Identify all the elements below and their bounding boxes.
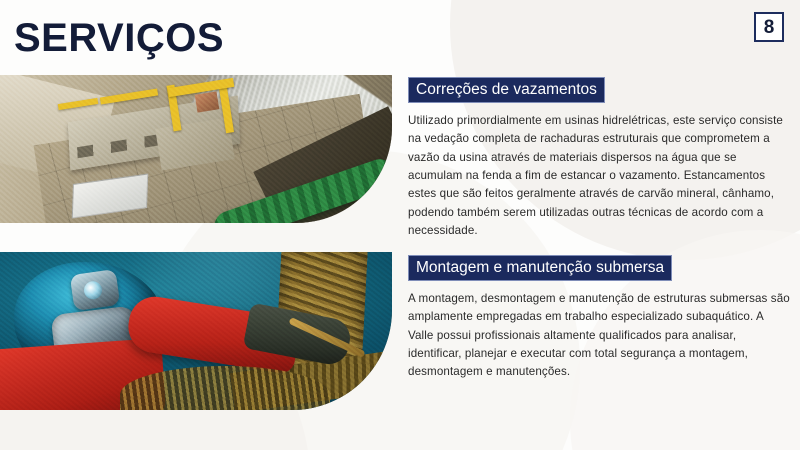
photo-grain-overlay (0, 75, 392, 223)
service-heading-submerged-assembly: Montagem e manutenção submersa (408, 255, 672, 281)
service-image-dam (0, 75, 392, 223)
service-heading-leak-corrections: Correções de vazamentos (408, 77, 605, 103)
page-number-badge: 8 (754, 12, 784, 42)
service-block-submerged-assembly: Montagem e manutenção submersa A montage… (0, 252, 800, 410)
photo-grain-overlay (0, 252, 392, 410)
service-text-column: Montagem e manutenção submersa A montage… (408, 255, 790, 382)
page-number-value: 8 (764, 18, 775, 37)
service-block-leak-corrections: Correções de vazamentos Utilizado primor… (0, 75, 800, 223)
service-image-diver (0, 252, 392, 410)
page-title: SERVIÇOS (14, 18, 224, 58)
slide: SERVIÇOS 8 (0, 0, 800, 450)
service-body-leak-corrections: Utilizado primordialmente em usinas hidr… (408, 112, 790, 240)
service-text-column: Correções de vazamentos Utilizado primor… (408, 77, 790, 240)
service-body-submerged-assembly: A montagem, desmontagem e manutenção de … (408, 290, 790, 382)
